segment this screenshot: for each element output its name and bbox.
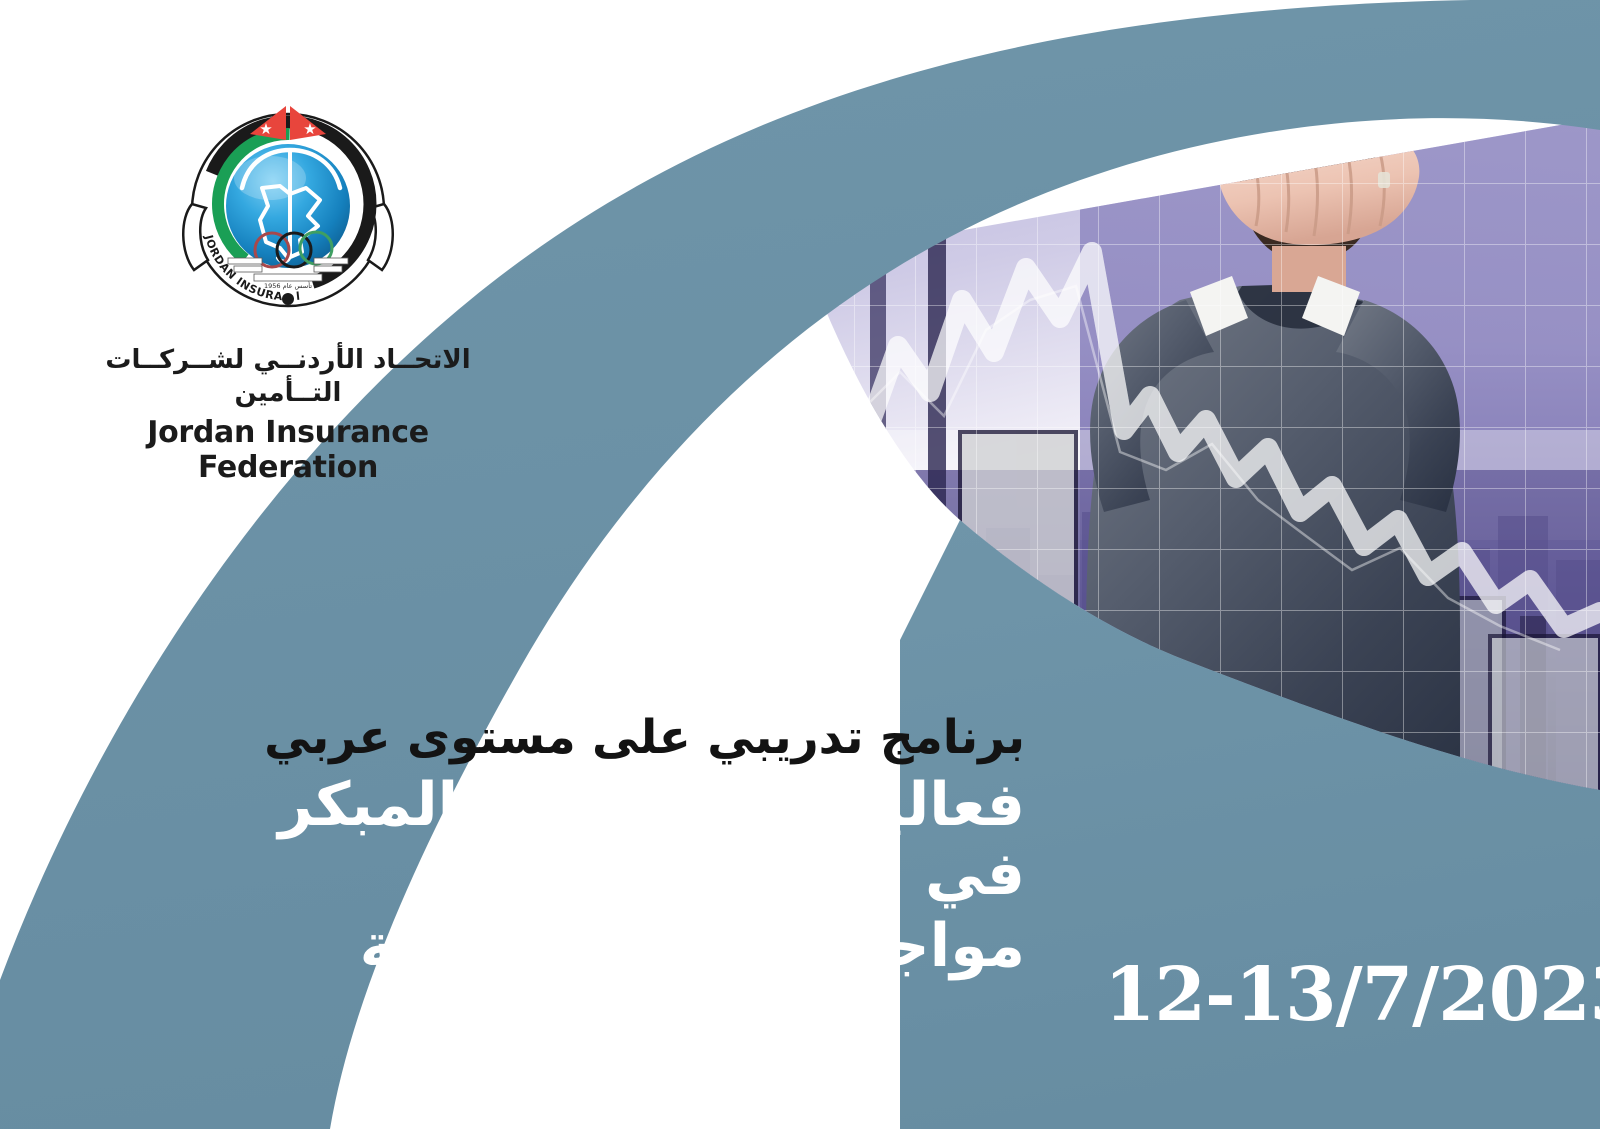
svg-text:تأسس عام 1956: تأسس عام 1956 [264, 281, 312, 290]
svg-text:★: ★ [259, 120, 272, 138]
svg-text:★: ★ [303, 120, 316, 138]
program-title-line-2: مواجهة الازمات المالية [225, 912, 1025, 982]
organization-name-arabic: الاتحــاد الأردنــي لشــركــات التــأمين [88, 344, 488, 409]
program-title-line-1: فعالية نظام الانذار المبكر في [225, 771, 1025, 910]
jordan-insurance-federation-logo-icon: ★ ★ [168, 92, 408, 332]
organization-logo-block: ★ ★ [88, 92, 488, 485]
organization-name-english: Jordan Insurance Federation [88, 415, 488, 485]
program-kicker: برنامج تدريبي على مستوى عربي [225, 712, 1025, 765]
poster-canvas: ★ ★ [0, 0, 1600, 1129]
headline-block: برنامج تدريبي على مستوى عربي فعالية نظام… [225, 712, 1025, 981]
event-date: 12-13/7/2023 [1104, 952, 1600, 1038]
